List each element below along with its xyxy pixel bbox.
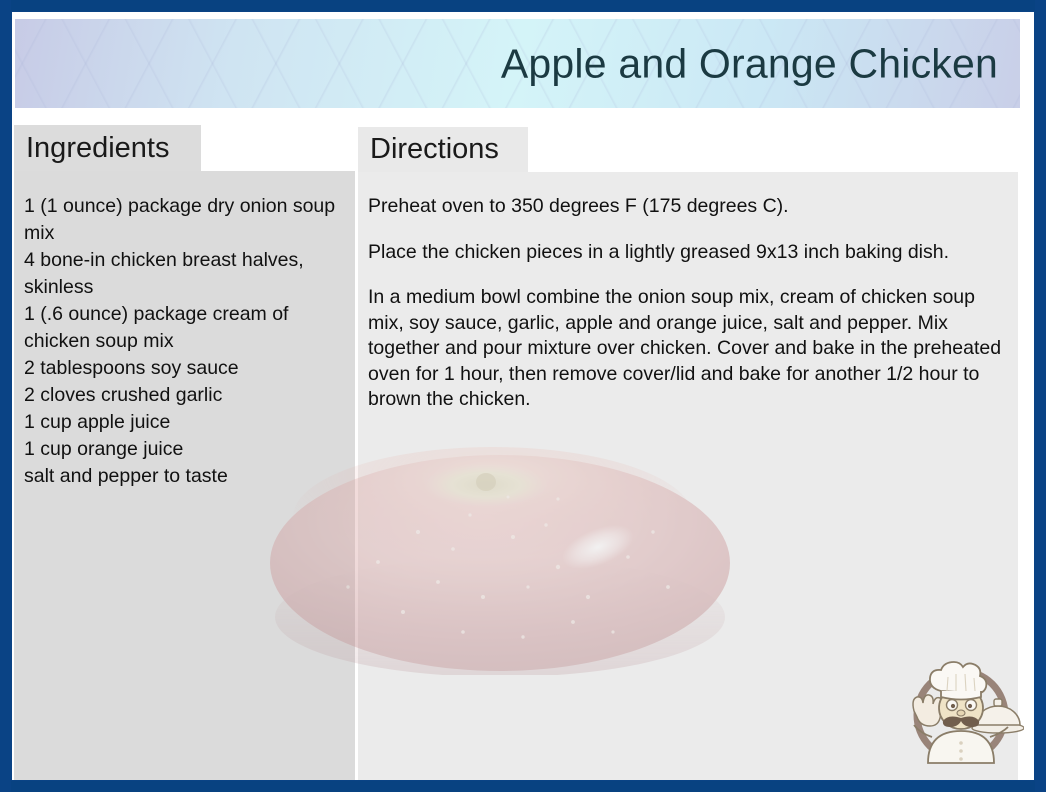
list-item: salt and pepper to taste <box>24 463 347 490</box>
frame-border-left <box>0 0 11 792</box>
ingredients-panel: 1 (1 ounce) package dry onion soup mix 4… <box>14 171 355 780</box>
directions-body: Preheat oven to 350 degrees F (175 degre… <box>368 194 1008 413</box>
ingredients-heading: Ingredients <box>14 132 170 165</box>
recipe-slide: Apple and Orange Chicken Ingredients Dir… <box>0 0 1046 792</box>
directions-heading: Directions <box>358 133 499 166</box>
ingredients-list: 1 (1 ounce) package dry onion soup mix 4… <box>24 193 347 490</box>
directions-section-tab: Directions <box>358 127 528 172</box>
frame-border-top <box>0 0 1046 11</box>
list-item: 1 cup apple juice <box>24 409 347 436</box>
chef-hat-icon <box>930 662 986 700</box>
title-banner: Apple and Orange Chicken <box>15 19 1020 108</box>
direction-step: In a medium bowl combine the onion soup … <box>368 285 1008 413</box>
list-item: 1 (1 ounce) package dry onion soup mix <box>24 193 347 247</box>
list-item: 2 cloves crushed garlic <box>24 382 347 409</box>
frame-border-bottom <box>0 781 1046 792</box>
ingredients-section-tab: Ingredients <box>14 125 201 171</box>
frame-border-right <box>1035 0 1046 792</box>
page-title: Apple and Orange Chicken <box>501 40 998 87</box>
direction-step: Place the chicken pieces in a lightly gr… <box>368 240 1008 266</box>
list-item: 2 tablespoons soy sauce <box>24 355 347 382</box>
list-item: 4 bone-in chicken breast halves, skinles… <box>24 247 347 301</box>
chef-logo <box>898 645 1024 771</box>
direction-step: Preheat oven to 350 degrees F (175 degre… <box>368 194 1008 220</box>
list-item: 1 (.6 ounce) package cream of chicken so… <box>24 301 347 355</box>
list-item: 1 cup orange juice <box>24 436 347 463</box>
